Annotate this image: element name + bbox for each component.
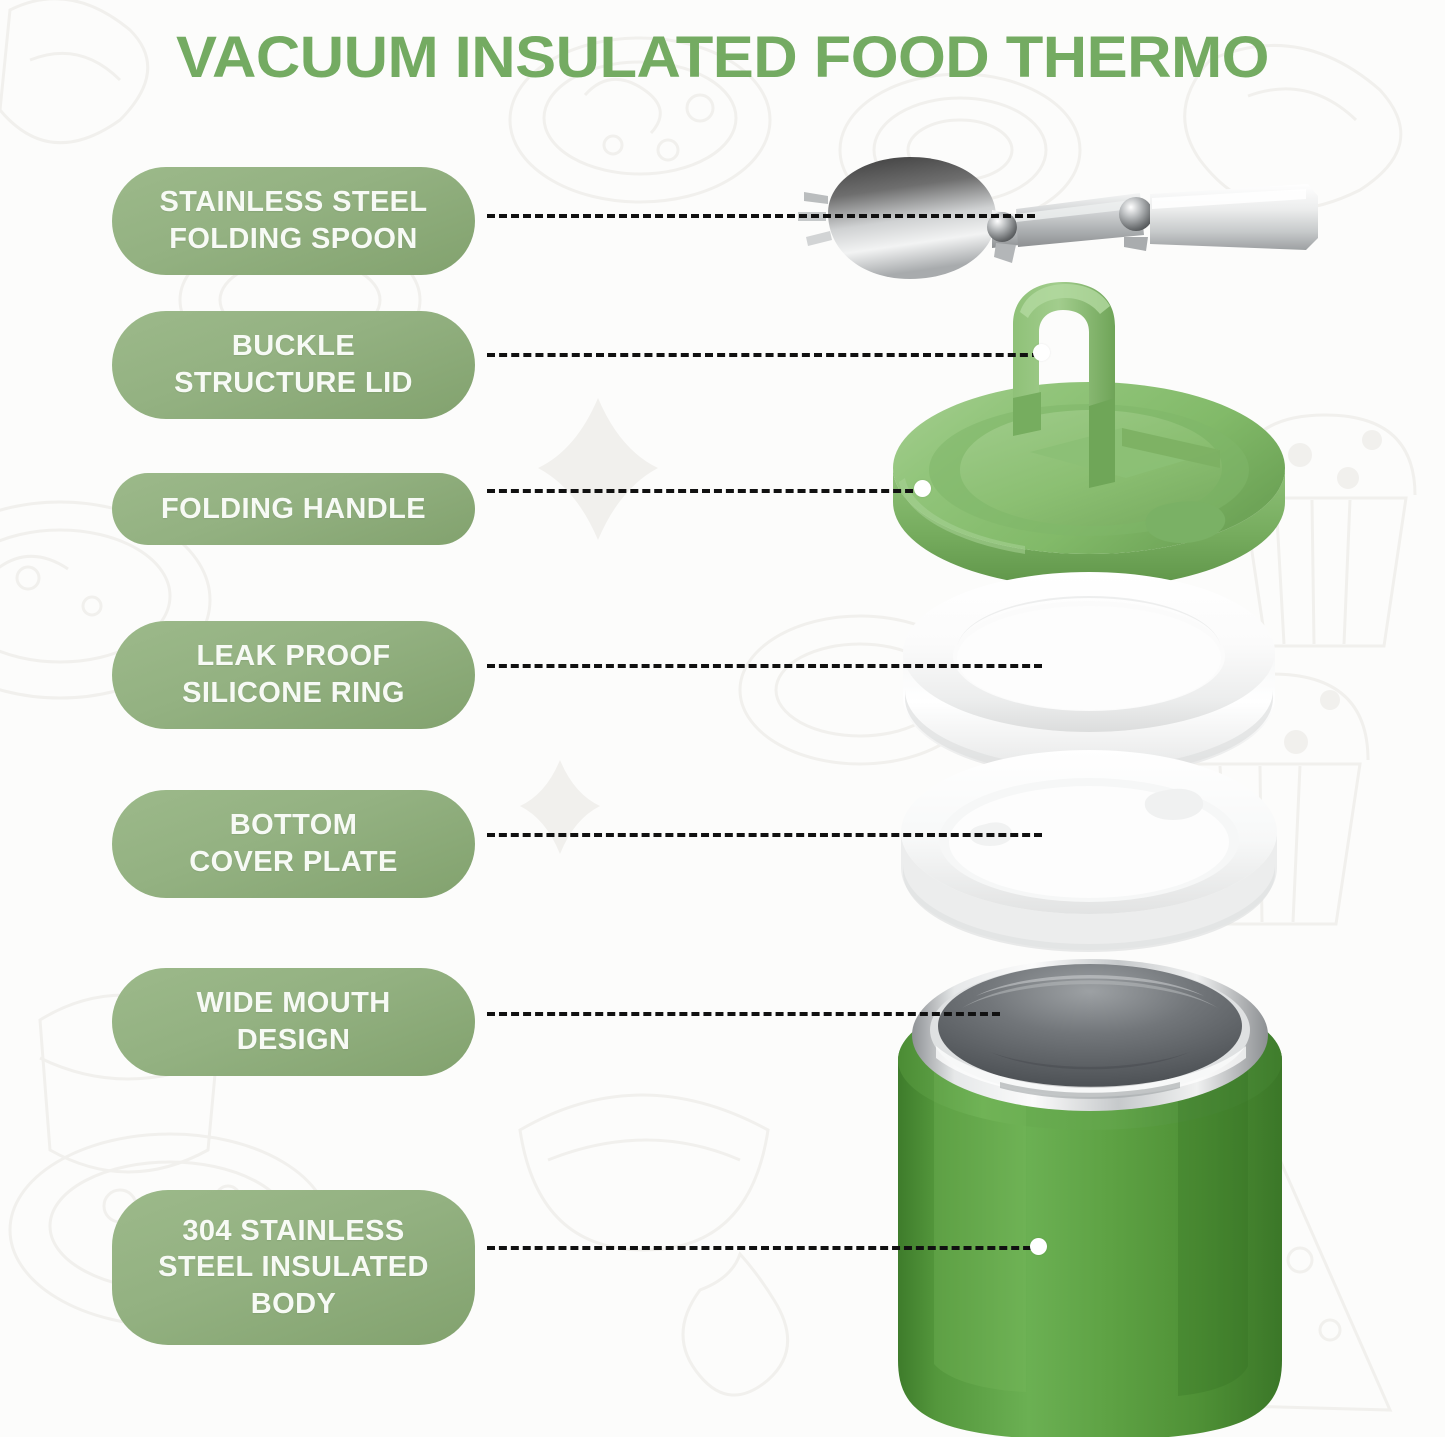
connector-line-stainless-steel-folding-spoon <box>487 214 1035 218</box>
callout-label: WIDE MOUTH DESIGN <box>196 985 390 1058</box>
callout-pill-bottom-cover-plate: BOTTOM COVER PLATE <box>112 790 475 898</box>
callout-label: FOLDING HANDLE <box>161 491 426 528</box>
connector-endpoint-dot-304-stainless-steel-insulated-body <box>1030 1238 1047 1255</box>
callout-pill-wide-mouth-design: WIDE MOUTH DESIGN <box>112 968 475 1076</box>
connector-line-wide-mouth-design <box>487 1012 1000 1016</box>
page-title: VACUUM INSULATED FOOD THERMO <box>0 28 1445 89</box>
connector-line-buckle-structure-lid <box>487 353 1040 357</box>
callout-label: BUCKLE STRUCTURE LID <box>174 328 413 401</box>
callout-pill-folding-handle: FOLDING HANDLE <box>112 473 475 545</box>
connector-line-folding-handle <box>487 489 925 493</box>
connector-endpoint-dot-buckle-structure-lid <box>1033 344 1050 361</box>
callout-label: STAINLESS STEEL FOLDING SPOON <box>159 184 427 257</box>
callout-pill-buckle-structure-lid: BUCKLE STRUCTURE LID <box>112 311 475 419</box>
infographic-canvas: VACUUM INSULATED FOOD THERMO <box>0 0 1445 1437</box>
callout-pill-leak-proof-silicone-ring: LEAK PROOF SILICONE RING <box>112 621 475 729</box>
callout-label: BOTTOM COVER PLATE <box>189 807 398 880</box>
callout-pill-304-stainless-steel-insulated-body: 304 STAINLESS STEEL INSULATED BODY <box>112 1190 475 1345</box>
callout-label: 304 STAINLESS STEEL INSULATED BODY <box>158 1213 429 1323</box>
connector-line-bottom-cover-plate <box>487 833 1042 837</box>
connector-endpoint-dot-folding-handle <box>914 480 931 497</box>
connector-line-304-stainless-steel-insulated-body <box>487 1246 1043 1250</box>
callout-pill-stainless-steel-folding-spoon: STAINLESS STEEL FOLDING SPOON <box>112 167 475 275</box>
connector-line-leak-proof-silicone-ring <box>487 664 1042 668</box>
callout-label: LEAK PROOF SILICONE RING <box>182 638 405 711</box>
